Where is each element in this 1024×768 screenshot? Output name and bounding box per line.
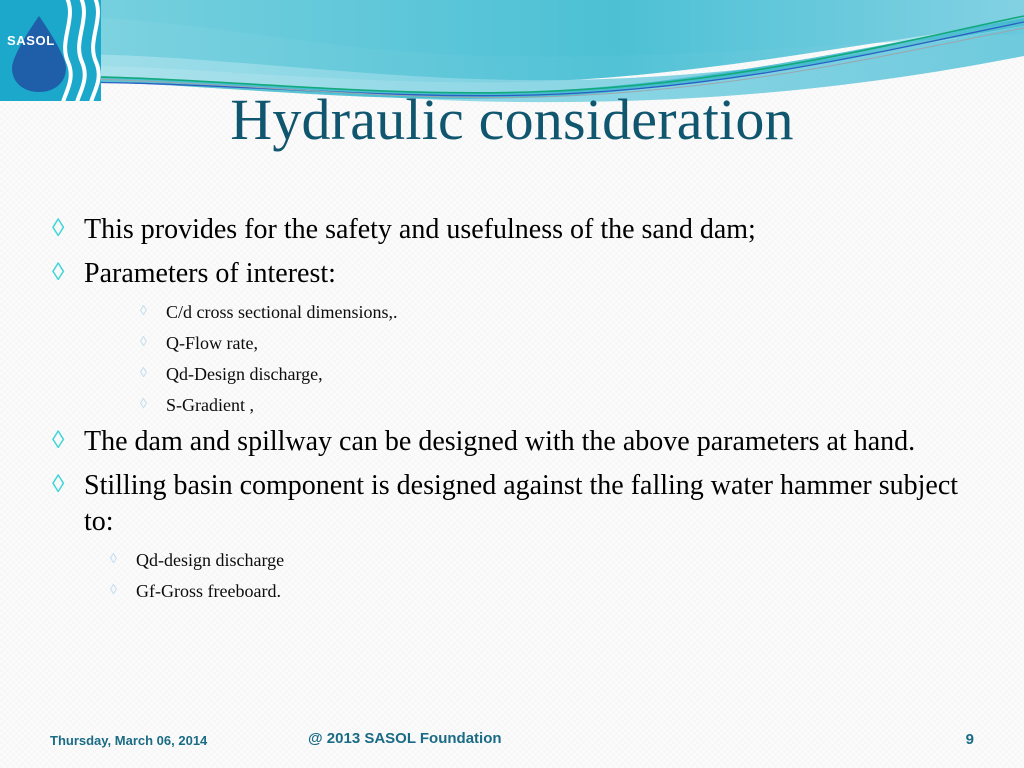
sub-bullet-group: ◊ C/d cross sectional dimensions,. ◊ Q-F…	[52, 300, 992, 417]
sub-bullet-item: ◊ Qd-Design discharge,	[140, 362, 992, 386]
slide-page-number: 9	[966, 731, 974, 748]
sasol-wordmark: SASOL	[7, 33, 55, 48]
sub-bullet-group: ◊ Qd-design discharge ◊ Gf-Gross freeboa…	[52, 548, 992, 603]
diamond-bullet-icon: ◊	[140, 331, 166, 355]
bullet-item: ◊ Stilling basin component is designed a…	[52, 468, 992, 540]
bullet-text: Stilling basin component is designed aga…	[84, 468, 992, 540]
footer-copyright: @ 2013 SASOL Foundation	[308, 730, 502, 747]
logo-wave-lines	[56, 0, 101, 101]
bullet-text: This provides for the safety and usefuln…	[84, 212, 756, 248]
slide-title: Hydraulic consideration	[0, 88, 1024, 152]
sub-bullet-item: ◊ Qd-design discharge	[110, 548, 992, 572]
sub-bullet-text: S-Gradient ,	[166, 393, 254, 417]
slide-body: ◊ This provides for the safety and usefu…	[52, 212, 992, 610]
diamond-bullet-icon: ◊	[52, 468, 84, 502]
sasol-logo: SASOL	[0, 0, 101, 101]
diamond-bullet-icon: ◊	[52, 212, 84, 246]
sub-bullet-item: ◊ Q-Flow rate,	[140, 331, 992, 355]
diamond-bullet-icon: ◊	[110, 548, 136, 572]
diamond-bullet-icon: ◊	[140, 362, 166, 386]
sub-bullet-text: Qd-design discharge	[136, 548, 284, 572]
diamond-bullet-icon: ◊	[140, 300, 166, 324]
sub-bullet-text: Gf-Gross freeboard.	[136, 579, 281, 603]
bullet-item: ◊ This provides for the safety and usefu…	[52, 212, 992, 248]
presentation-slide: SASOL Hydraulic consideration ◊ This pro…	[0, 0, 1024, 768]
sub-bullet-text: Q-Flow rate,	[166, 331, 258, 355]
sub-bullet-text: C/d cross sectional dimensions,.	[166, 300, 397, 324]
diamond-bullet-icon: ◊	[140, 393, 166, 417]
slide-footer: Thursday, March 06, 2014 @ 2013 SASOL Fo…	[0, 730, 1024, 760]
bullet-text: The dam and spillway can be designed wit…	[84, 424, 915, 460]
sub-bullet-text: Qd-Design discharge,	[166, 362, 323, 386]
diamond-bullet-icon: ◊	[52, 424, 84, 458]
sub-bullet-item: ◊ S-Gradient ,	[140, 393, 992, 417]
footer-date: Thursday, March 06, 2014	[50, 733, 207, 748]
sub-bullet-item: ◊ Gf-Gross freeboard.	[110, 579, 992, 603]
diamond-bullet-icon: ◊	[52, 256, 84, 290]
bullet-item: ◊ The dam and spillway can be designed w…	[52, 424, 992, 460]
bullet-item: ◊ Parameters of interest:	[52, 256, 992, 292]
bullet-text: Parameters of interest:	[84, 256, 336, 292]
diamond-bullet-icon: ◊	[110, 579, 136, 603]
sub-bullet-item: ◊ C/d cross sectional dimensions,.	[140, 300, 992, 324]
